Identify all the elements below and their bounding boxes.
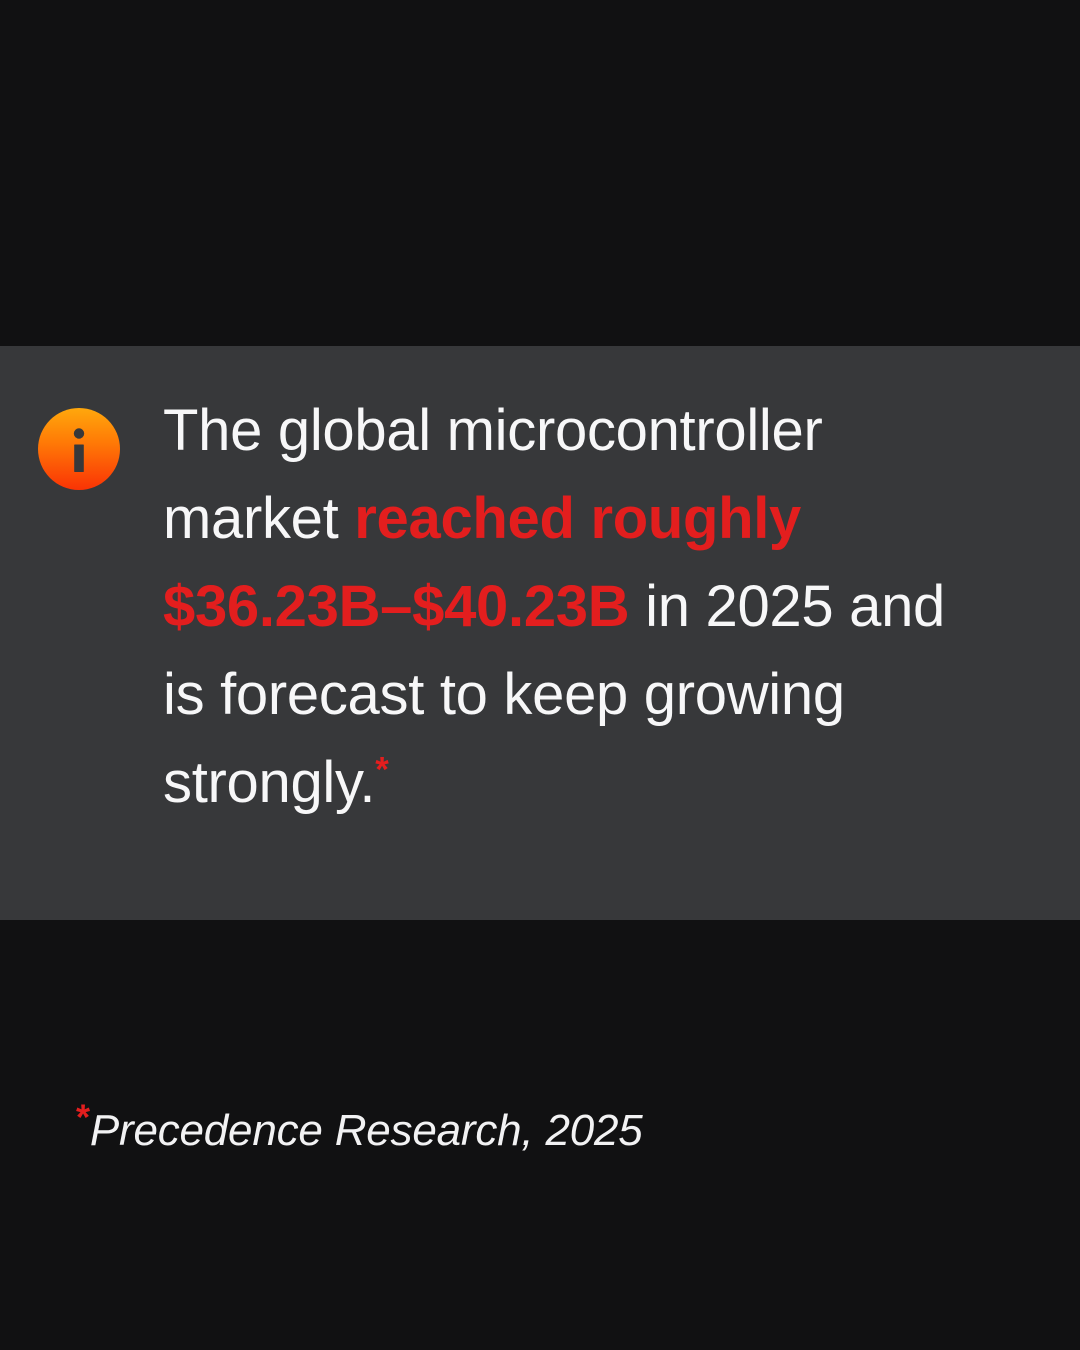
footnote: *Precedence Research, 2025: [76, 1103, 643, 1159]
slide-canvas: The global microcontroller market reache…: [0, 0, 1080, 1350]
top-spacer: [0, 0, 1080, 346]
reference-mark: *: [375, 751, 388, 790]
callout-panel: The global microcontroller market reache…: [0, 346, 1080, 920]
info-icon-graphic: [38, 408, 120, 490]
footnote-mark: *: [76, 1096, 90, 1137]
callout-text: The global microcontroller market reache…: [163, 387, 960, 827]
info-icon: [38, 408, 120, 490]
footnote-source-text: Precedence Research, 2025: [90, 1106, 643, 1155]
